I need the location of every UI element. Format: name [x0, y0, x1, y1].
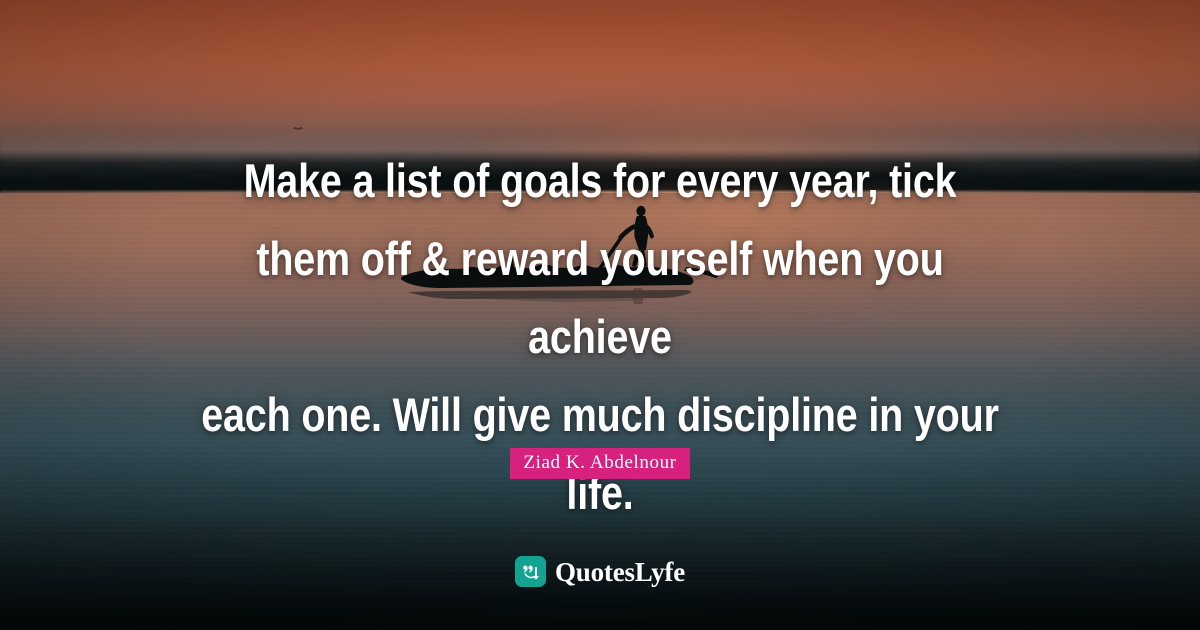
- quoteslyfe-logo-icon: [515, 556, 546, 587]
- author-name-badge[interactable]: Ziad K. Abdelnour: [510, 448, 689, 479]
- quote-card: Make a list of goals for every year, tic…: [0, 0, 1200, 630]
- brand-name: QuotesLyfe: [555, 557, 685, 587]
- quote-smiley-icon: [520, 561, 542, 583]
- author-row: Ziad K. Abdelnour: [0, 448, 1200, 479]
- brand-logo[interactable]: QuotesLyfe: [0, 556, 1200, 587]
